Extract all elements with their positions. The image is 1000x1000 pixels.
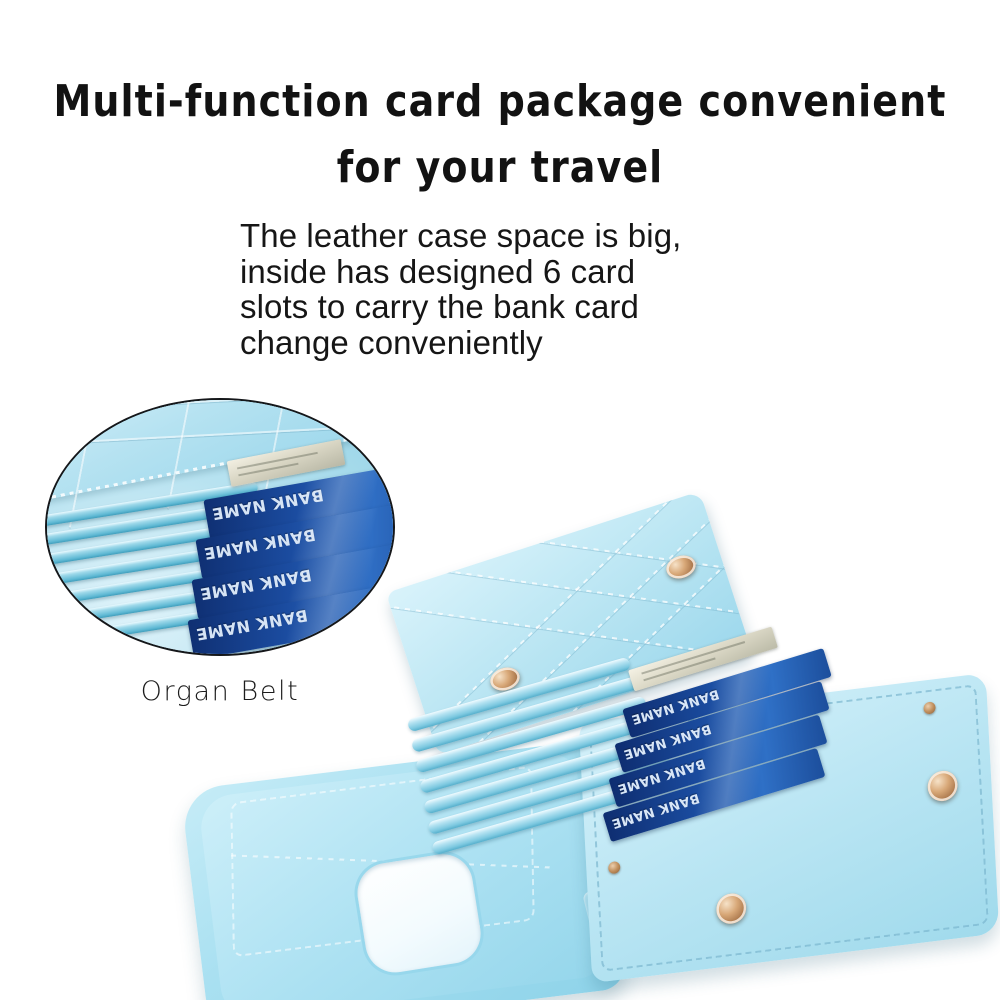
camera-cutout (353, 850, 485, 977)
description-line-3: slots to carry the bank card (240, 289, 800, 325)
description-line-2: inside has designed 6 card (240, 254, 800, 290)
description-line-1: The leather case space is big, (240, 218, 800, 254)
description-line-4: change conveniently (240, 325, 800, 361)
product-photo: BANK NAME BANK NAME BANK NAME BANK NAME (186, 520, 986, 1000)
accordion-card-holder: BANK NAME BANK NAME BANK NAME BANK NAME (404, 538, 874, 868)
description-block: The leather case space is big, inside ha… (240, 218, 800, 360)
product-marketing-image: Multi-function card package convenient f… (0, 0, 1000, 1000)
headline-line-2: for your travel (20, 140, 980, 196)
headline-line-1: Multi-function card package convenient (20, 74, 980, 130)
